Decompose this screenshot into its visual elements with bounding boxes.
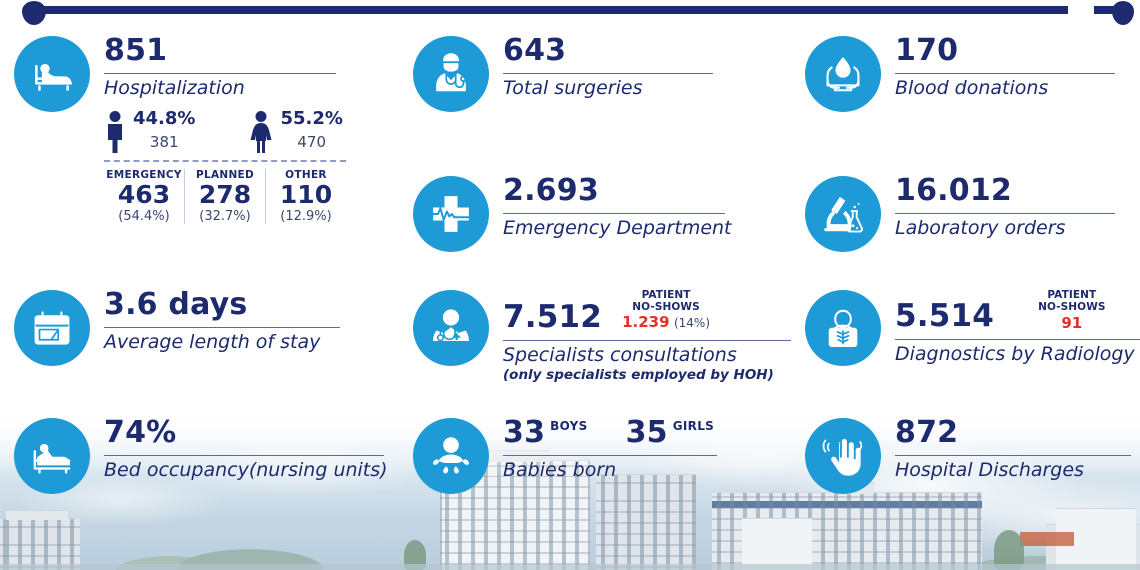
infographic-canvas: 851 Hospitalization 44.8% 381 [0,0,1140,570]
cross-heartbeat-icon [413,176,489,252]
specialists-consultations-body: 7.512 PATIENT NO-SHOWS 1.239 (14%) Speci… [503,288,791,384]
average-length-of-stay-label: Average length of stay [104,332,340,354]
emergency-department-value: 2.693 [503,176,732,206]
total-surgeries-value: 643 [503,36,713,66]
stat-card-hospitalization: 851 Hospitalization 44.8% 381 [14,34,346,224]
no-shows-value: 1.239 [622,313,669,331]
divider-rule [503,213,725,214]
male-icon [104,110,126,154]
diagnostics-by-radiology-body: 5.514 PATIENT NO-SHOWS 91 Diagnostics by… [895,288,1140,366]
total-surgeries-body: 643 Total surgeries [503,34,713,100]
hospital-bed-icon [14,418,90,494]
building-roof-structure [6,510,68,520]
babies-topline: 33 BOYS 35 GIRLS [503,418,717,448]
blood-donations-body: 170 Blood donations [895,34,1115,100]
female-percent: 55.2% [280,110,342,128]
doctor-stethoscope-icon [413,36,489,112]
stat-card-total-surgeries: 643 Total surgeries [413,34,713,112]
no-shows-percent: (14%) [674,316,710,330]
gender-breakdown: 44.8% 381 55.2% 470 [104,110,346,154]
blood-donations-label: Blood donations [895,78,1115,100]
gender-item-male: 44.8% 381 [104,110,195,154]
red-roof [1020,532,1074,546]
category-percent: (12.9%) [268,209,344,224]
boys-value: 33 [503,418,545,448]
stat-card-emergency-department: 2.693 Emergency Department [413,174,732,252]
building-low-block [742,518,812,570]
patient-no-shows-radiology: PATIENT NO-SHOWS 91 [1038,290,1106,332]
calendar-icon [14,290,90,366]
no-shows-value-row: 1.239 (14%) [622,314,710,332]
emergency-department-body: 2.693 Emergency Department [503,174,732,240]
specialists-consultations-value: 7.512 [503,302,602,333]
stat-card-bed-occupancy: 74% Bed occupancy(nursing units) [14,416,388,494]
stat-card-specialists-consultations: 7.512 PATIENT NO-SHOWS 1.239 (14%) Speci… [413,288,791,384]
diagnostics-by-radiology-label: Diagnostics by Radiology [895,344,1140,366]
total-surgeries-label: Total surgeries [503,78,713,100]
gender-item-female: 55.2% 470 [249,110,342,154]
top-rule-gap [1068,4,1094,16]
stat-card-babies-born: 33 BOYS 35 GIRLS Babies born [413,416,717,494]
girls-value: 35 [626,418,668,448]
specialists-consultations-sublabel: (only specialists employed by HOH) [503,367,791,383]
microscope-flask-icon [805,176,881,252]
male-count: 381 [133,133,195,151]
no-shows-title-line1: PATIENT [1038,290,1106,302]
hands-blood-drop-icon [805,36,881,112]
divider-rule [503,73,713,74]
male-stats: 44.8% 381 [133,110,195,151]
hospital-discharges-body: 872 Hospital Discharges [895,416,1131,482]
specialist-doctor-icon [413,290,489,366]
stat-card-average-length-of-stay: 3.6 days Average length of stay [14,288,340,366]
stat-card-hospital-discharges: 872 Hospital Discharges [805,416,1131,494]
category-percent: (54.4%) [106,209,182,224]
divider-rule [895,339,1140,340]
xray-icon [805,290,881,366]
hospitalization-label: Hospitalization [104,78,346,100]
category-other: OTHER 110 (12.9%) [265,169,346,224]
babies-born-label: Babies born [503,460,717,482]
laboratory-orders-body: 16.012 Laboratory orders [895,174,1115,240]
patient-in-bed-icon [14,36,90,112]
no-shows-title-line2: NO-SHOWS [1038,302,1106,314]
specialists-topline: 7.512 PATIENT NO-SHOWS 1.239 (14%) [503,290,791,333]
stat-card-laboratory-orders: 16.012 Laboratory orders [805,174,1115,252]
divider-rule [104,73,336,74]
baby-icon [413,418,489,494]
patient-no-shows-specialists: PATIENT NO-SHOWS 1.239 (14%) [622,290,710,333]
divider-rule [104,327,340,328]
ground-line [0,564,1140,570]
laboratory-orders-value: 16.012 [895,176,1115,206]
left-pin-icon [22,1,46,25]
category-value: 278 [187,182,263,208]
building-left-block [0,518,80,570]
category-emergency: EMERGENCY 463 (54.4%) [104,169,184,224]
divider-rule [503,455,717,456]
boys-caption: BOYS [550,419,587,433]
hospital-discharges-label: Hospital Discharges [895,460,1131,482]
girls-caption: GIRLS [673,419,714,433]
right-pin-icon [1112,1,1134,25]
radiology-topline: 5.514 PATIENT NO-SHOWS 91 [895,290,1140,332]
category-planned: PLANNED 278 (32.7%) [184,169,265,224]
hospital-discharges-value: 872 [895,418,1131,448]
admission-type-breakdown: EMERGENCY 463 (54.4%) PLANNED 278 (32.7%… [104,169,346,224]
top-rule [38,6,1124,14]
stat-card-blood-donations: 170 Blood donations [805,34,1115,112]
divider-rule [895,73,1115,74]
category-percent: (32.7%) [187,209,263,224]
divider-rule [895,455,1131,456]
top-navy-bar [0,0,1140,26]
babies-born-body: 33 BOYS 35 GIRLS Babies born [503,416,717,482]
no-shows-value: 91 [1038,315,1106,332]
hospitalization-value: 851 [104,36,346,66]
stats-grid: 851 Hospitalization 44.8% 381 [0,26,1140,506]
female-icon [249,110,273,154]
average-length-of-stay-body: 3.6 days Average length of stay [104,288,340,354]
average-length-of-stay-value: 3.6 days [104,290,340,320]
stat-card-diagnostics-by-radiology: 5.514 PATIENT NO-SHOWS 91 Diagnostics by… [805,288,1140,366]
building-windows [0,519,80,570]
male-percent: 44.8% [133,110,195,128]
emergency-department-label: Emergency Department [503,218,732,240]
divider-rule [104,455,384,456]
category-value: 110 [268,182,344,208]
specialists-consultations-label: Specialists consultations [503,345,791,367]
bed-occupancy-label: Bed occupancy(nursing units) [104,460,388,482]
no-shows-title-line1: PATIENT [622,290,710,302]
diagnostics-by-radiology-value: 5.514 [895,301,994,332]
female-count: 470 [280,133,342,151]
female-stats: 55.2% 470 [280,110,342,151]
dashed-divider [104,160,346,162]
bed-occupancy-body: 74% Bed occupancy(nursing units) [104,416,388,482]
no-shows-title-line2: NO-SHOWS [622,302,710,314]
laboratory-orders-label: Laboratory orders [895,218,1115,240]
blood-donations-value: 170 [895,36,1115,66]
category-value: 463 [106,182,182,208]
waving-hand-icon [805,418,881,494]
hospitalization-body: 851 Hospitalization 44.8% 381 [104,34,346,224]
divider-rule [503,340,791,341]
bed-occupancy-value: 74% [104,418,388,448]
divider-rule [895,213,1115,214]
